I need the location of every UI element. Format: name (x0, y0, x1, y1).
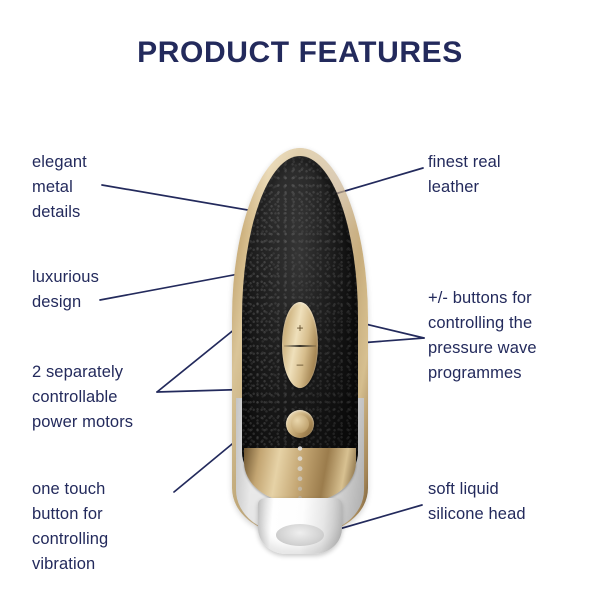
power-button[interactable] (286, 410, 314, 438)
callout-power-motors: 2 separately controllable power motors (32, 360, 197, 435)
infographic-canvas: PRODUCT FEATURES + – elegant m (0, 0, 600, 600)
callout-finest-real-leather: finest real leather (428, 150, 588, 200)
callout-elegant-metal-details: elegant metal details (32, 150, 182, 225)
callout-pressure-wave-buttons: +/- buttons for controlling the pressure… (428, 286, 588, 386)
silicone-head (258, 498, 342, 554)
plus-label: + (282, 322, 318, 334)
callout-luxurious-design: luxurious design (32, 265, 182, 315)
plus-minus-rocker-button[interactable]: + – (282, 302, 318, 388)
rocker-divider (284, 345, 316, 347)
minus-label: – (282, 358, 318, 370)
decorative-dot-strip (292, 444, 308, 500)
product-illustration: + – (232, 148, 368, 554)
page-title: PRODUCT FEATURES (0, 36, 600, 70)
callout-one-touch-button: one touch button for controlling vibrati… (32, 477, 197, 577)
callout-silicone-head: soft liquid silicone head (428, 477, 588, 527)
